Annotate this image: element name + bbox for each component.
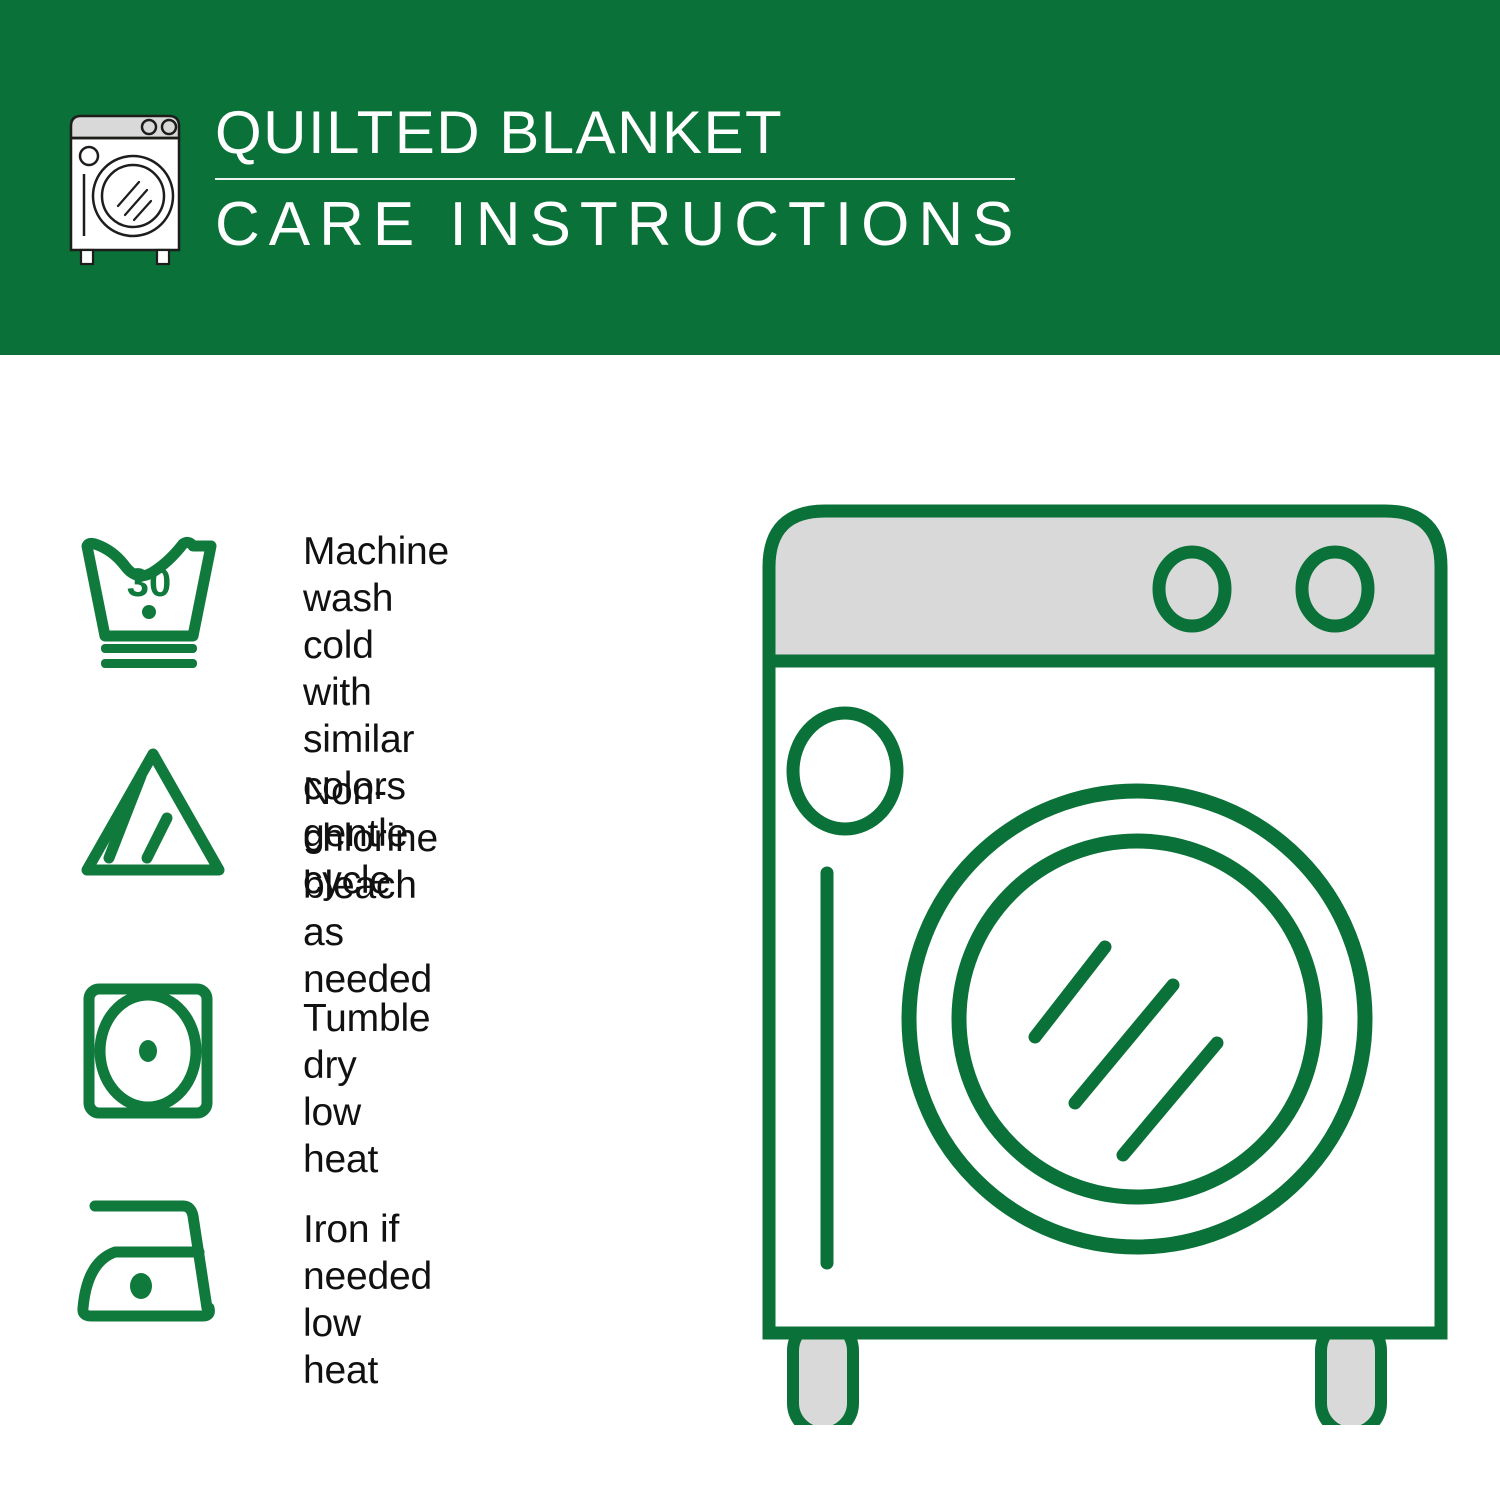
header-divider	[215, 178, 1015, 180]
wash-tub-30-icon: 30	[75, 520, 245, 670]
care-row-label: Tumble dry low heat	[303, 995, 430, 1183]
care-row-label: Non-chlorine bleach as needed	[303, 768, 438, 1003]
wash-temperature-value: 30	[127, 561, 172, 605]
header-banner: QUILTED BLANKET CARE INSTRUCTIONS	[0, 0, 1500, 355]
care-row-machine-wash: 30 Machine wash cold with similar colors…	[75, 520, 245, 670]
care-row-tumble-dry: Tumble dry low heat	[75, 975, 245, 1125]
tumble-dry-low-icon	[75, 975, 245, 1125]
care-row-iron: Iron if needed low heat	[75, 1190, 245, 1340]
control-panel	[769, 511, 1441, 661]
non-chlorine-bleach-triangle-icon	[75, 740, 245, 890]
washing-machine-icon	[63, 108, 193, 268]
page-subtitle: CARE INSTRUCTIONS	[215, 190, 1022, 260]
care-row-bleach: Non-chlorine bleach as needed	[75, 740, 245, 890]
front-load-washing-machine-illustration	[745, 495, 1465, 1425]
care-row-label: Iron if needed low heat	[303, 1206, 432, 1394]
washer-body	[769, 655, 1441, 1333]
header-content: QUILTED BLANKET CARE INSTRUCTIONS	[63, 100, 1022, 268]
header-text-block: QUILTED BLANKET CARE INSTRUCTIONS	[215, 100, 1022, 260]
page-title: QUILTED BLANKET	[215, 100, 1022, 166]
iron-low-heat-icon	[75, 1190, 245, 1340]
care-instructions-page: QUILTED BLANKET CARE INSTRUCTIONS 30	[0, 0, 1500, 1500]
